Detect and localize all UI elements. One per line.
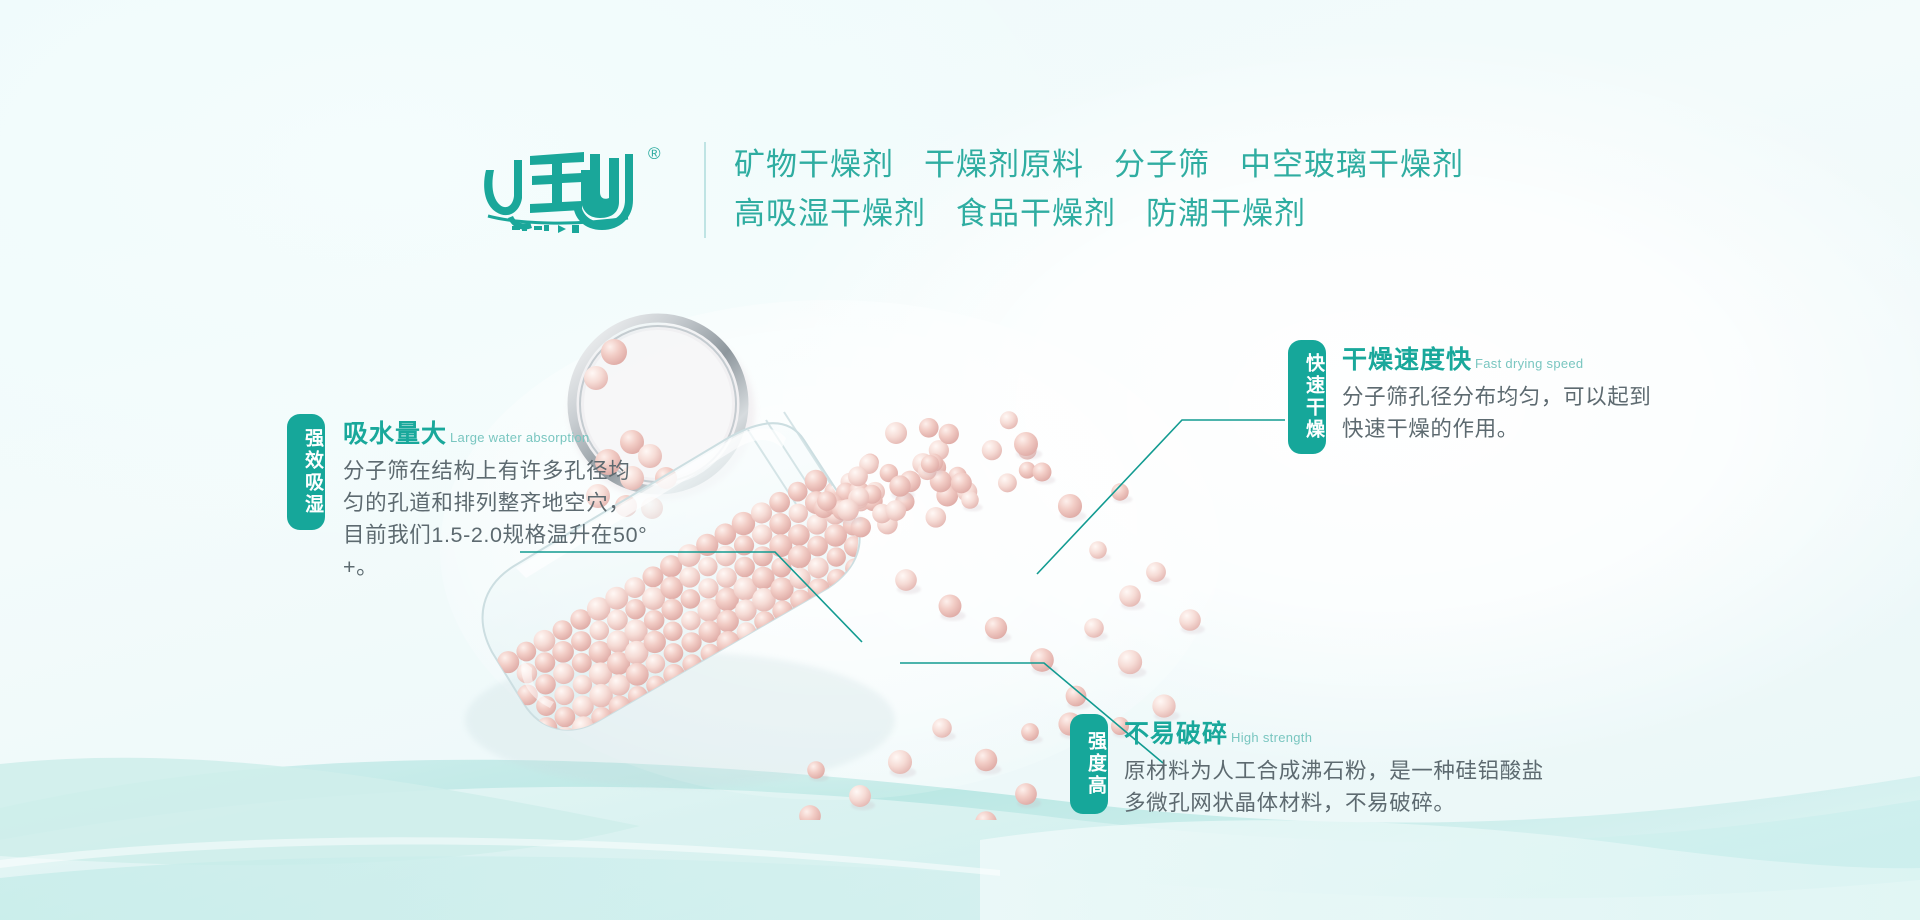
callout-text: 分子筛孔径分布均匀，可以起到快速干燥的作用。 <box>1342 381 1652 445</box>
badge-high-strength: 强度高 <box>1070 714 1108 814</box>
keyword-item[interactable]: 防潮干燥剂 <box>1146 189 1306 238</box>
keyword-line-2: 高吸湿干燥剂 食品干燥剂 防潮干燥剂 <box>734 189 1554 238</box>
callout-large-water-absorption: 强效吸湿 吸水量大 Large water absorption 分子筛在结构上… <box>287 414 648 583</box>
keyword-item[interactable]: 分子筛 <box>1114 140 1210 189</box>
header: ® 矿物干燥剂 干燥剂原料 分子筛 中空玻璃干燥剂 高吸湿干燥剂 食品干燥剂 防… <box>0 0 1920 280</box>
registered-mark: ® <box>648 144 661 164</box>
header-divider <box>704 142 706 238</box>
callout-body: 吸水量大 Large water absorption 分子筛在结构上有许多孔径… <box>343 414 648 583</box>
badge-fast-drying: 快速干燥 <box>1288 340 1326 454</box>
callout-title-row: 干燥速度快 Fast drying speed <box>1342 340 1652 376</box>
banner-canvas: ® 矿物干燥剂 干燥剂原料 分子筛 中空玻璃干燥剂 高吸湿干燥剂 食品干燥剂 防… <box>0 0 1920 920</box>
callout-text: 原材料为人工合成沸石粉，是一种硅铝酸盐多微孔网状晶体材料，不易破碎。 <box>1124 755 1544 819</box>
keyword-item[interactable]: 食品干燥剂 <box>956 189 1116 238</box>
callout-fast-drying-speed: 快速干燥 干燥速度快 Fast drying speed 分子筛孔径分布均匀，可… <box>1288 340 1652 454</box>
callout-title-row: 吸水量大 Large water absorption <box>343 414 648 450</box>
yaxin-logo <box>478 140 638 235</box>
callout-subtitle: High strength <box>1231 730 1312 745</box>
callout-title: 不易破碎 <box>1124 714 1228 750</box>
callout-title-row: 不易破碎 High strength <box>1124 714 1544 750</box>
callout-title: 干燥速度快 <box>1342 340 1472 376</box>
logo-subtext <box>512 225 579 233</box>
callout-body: 不易破碎 High strength 原材料为人工合成沸石粉，是一种硅铝酸盐多微… <box>1124 714 1544 819</box>
keyword-item[interactable]: 干燥剂原料 <box>924 140 1084 189</box>
keyword-line-1: 矿物干燥剂 干燥剂原料 分子筛 中空玻璃干燥剂 <box>734 140 1554 189</box>
callout-text: 分子筛在结构上有许多孔径均匀的孔道和排列整齐地空穴，目前我们1.5-2.0规格温… <box>343 455 648 583</box>
badge-strong-moisture-absorption: 强效吸湿 <box>287 414 325 530</box>
keyword-item[interactable]: 矿物干燥剂 <box>734 140 894 189</box>
keyword-item[interactable]: 高吸湿干燥剂 <box>734 189 926 238</box>
keyword-block: 矿物干燥剂 干燥剂原料 分子筛 中空玻璃干燥剂 高吸湿干燥剂 食品干燥剂 防潮干… <box>734 140 1554 238</box>
callout-body: 干燥速度快 Fast drying speed 分子筛孔径分布均匀，可以起到快速… <box>1342 340 1652 445</box>
callout-title: 吸水量大 <box>343 414 447 450</box>
callout-subtitle: Large water absorption <box>450 430 590 445</box>
keyword-item[interactable]: 中空玻璃干燥剂 <box>1240 140 1464 189</box>
callout-subtitle: Fast drying speed <box>1475 356 1583 371</box>
callout-high-strength: 强度高 不易破碎 High strength 原材料为人工合成沸石粉，是一种硅铝… <box>1070 714 1544 819</box>
